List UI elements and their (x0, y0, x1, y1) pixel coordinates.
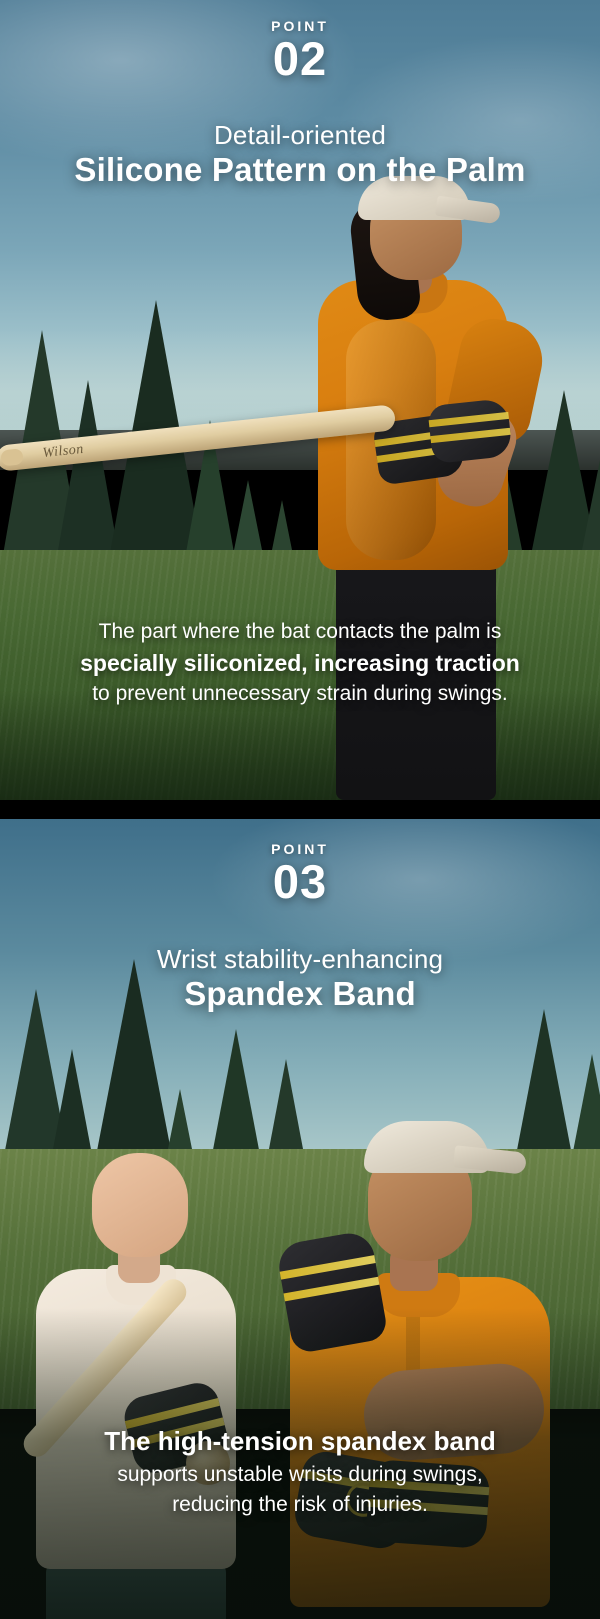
point-03-headline: Wrist stability-enhancing Spandex Band (0, 944, 600, 1013)
headline-small: Wrist stability-enhancing (0, 944, 600, 975)
body-line-3: to prevent unnecessary strain during swi… (0, 679, 600, 709)
point-02-headline: Detail-oriented Silicone Pattern on the … (0, 120, 600, 189)
bat-brand-label: Wilson (42, 442, 85, 462)
body-line-2: supports unstable wrists during swings, (0, 1460, 600, 1490)
point-03-header: POINT 03 (0, 841, 600, 906)
panel-point-02: Wilson POINT 02 Detail-oriented Silicone… (0, 0, 600, 800)
body-line-1: The part where the bat contacts the palm… (0, 617, 600, 647)
headline-large: Spandex Band (0, 975, 600, 1013)
point-02-header: POINT 02 (0, 18, 600, 83)
body-line-1: The high-tension spandex band (0, 1423, 600, 1460)
woman-head (92, 1153, 188, 1257)
point-03-body: The high-tension spandex band supports u… (0, 1423, 600, 1520)
point-02-body: The part where the bat contacts the palm… (0, 617, 600, 709)
body-line-3: reducing the risk of injuries. (0, 1490, 600, 1520)
point-number: 03 (0, 857, 600, 906)
headline-small: Detail-oriented (0, 120, 600, 151)
panel-point-03: POINT 03 Wrist stability-enhancing Spand… (0, 819, 600, 1619)
batting-glove-right (427, 398, 513, 464)
panel-divider (0, 800, 600, 819)
headline-large: Silicone Pattern on the Palm (0, 151, 600, 189)
point-number: 02 (0, 34, 600, 83)
body-line-2: specially siliconized, increasing tracti… (0, 647, 600, 680)
product-detail-page: Wilson POINT 02 Detail-oriented Silicone… (0, 0, 600, 1619)
